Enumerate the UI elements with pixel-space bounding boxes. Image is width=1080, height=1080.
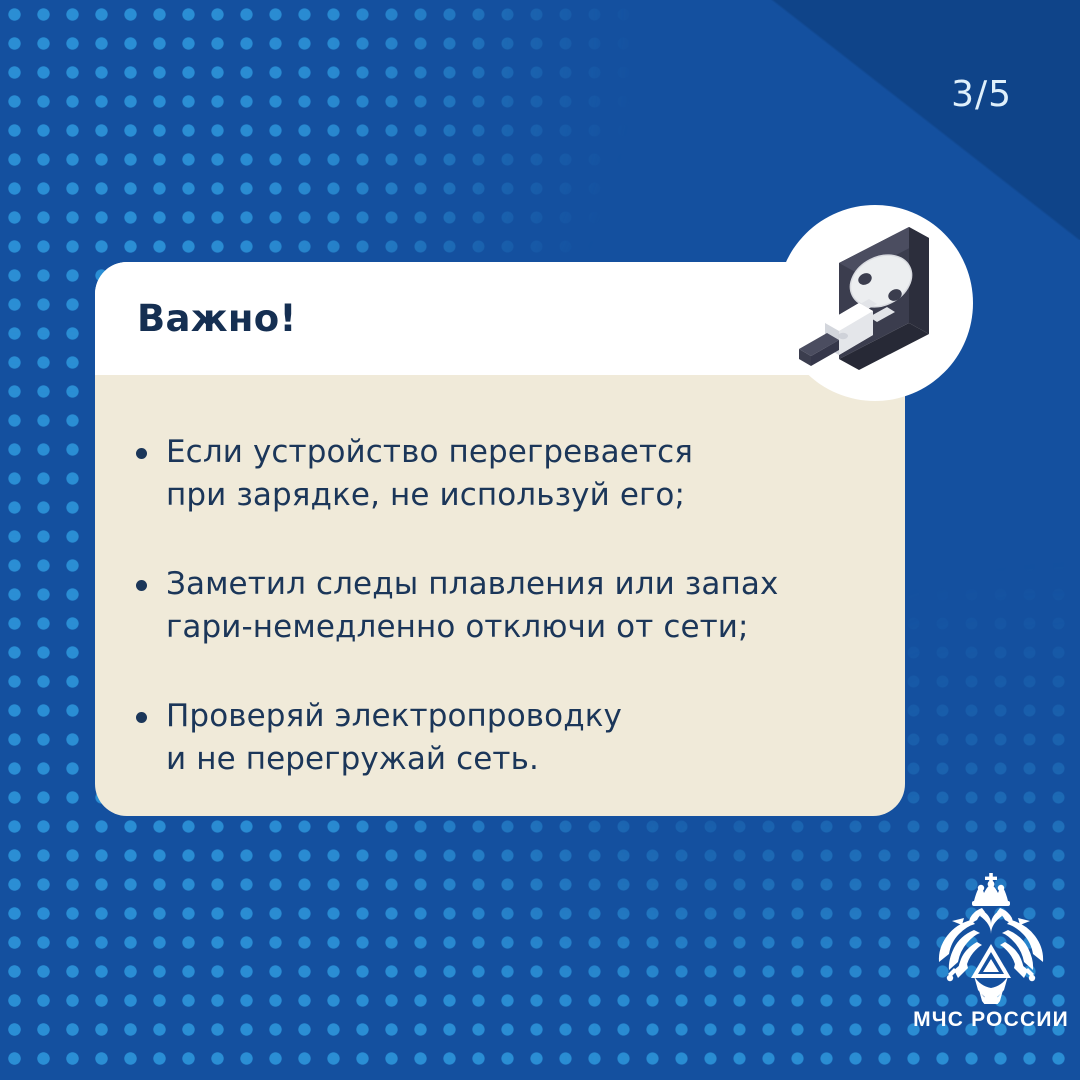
card-title: Важно! xyxy=(137,297,297,340)
emercom-logo: МЧС РОССИИ xyxy=(905,872,1077,1032)
list-item: Если устройство перегревается при зарядк… xyxy=(136,431,865,517)
bullet-dot-icon xyxy=(136,448,147,459)
list-item: Проверяй электропроводку и не перегружай… xyxy=(136,695,865,781)
top-right-corner-wedge xyxy=(750,0,1080,240)
list-item-text: Заметил следы плавления или запах гари-н… xyxy=(166,563,778,649)
card-body: Если устройство перегревается при зарядк… xyxy=(95,375,905,781)
power-socket-plug-icon xyxy=(777,205,973,401)
list-item: Заметил следы плавления или запах гари-н… xyxy=(136,563,865,649)
emercom-eagle-emblem-icon xyxy=(930,872,1052,1004)
list-item-text: Если устройство перегревается при зарядк… xyxy=(166,431,693,517)
list-item-text: Проверяй электропроводку и не перегружай… xyxy=(166,695,622,781)
bullet-dot-icon xyxy=(136,580,147,591)
socket-badge xyxy=(777,205,973,401)
poster-canvas: 3/5 Важно! Если устройство перегревается… xyxy=(0,0,1080,1080)
page-counter: 3/5 xyxy=(951,74,1012,115)
bullet-dot-icon xyxy=(136,712,147,723)
logo-text: МЧС РОССИИ xyxy=(905,1008,1077,1032)
